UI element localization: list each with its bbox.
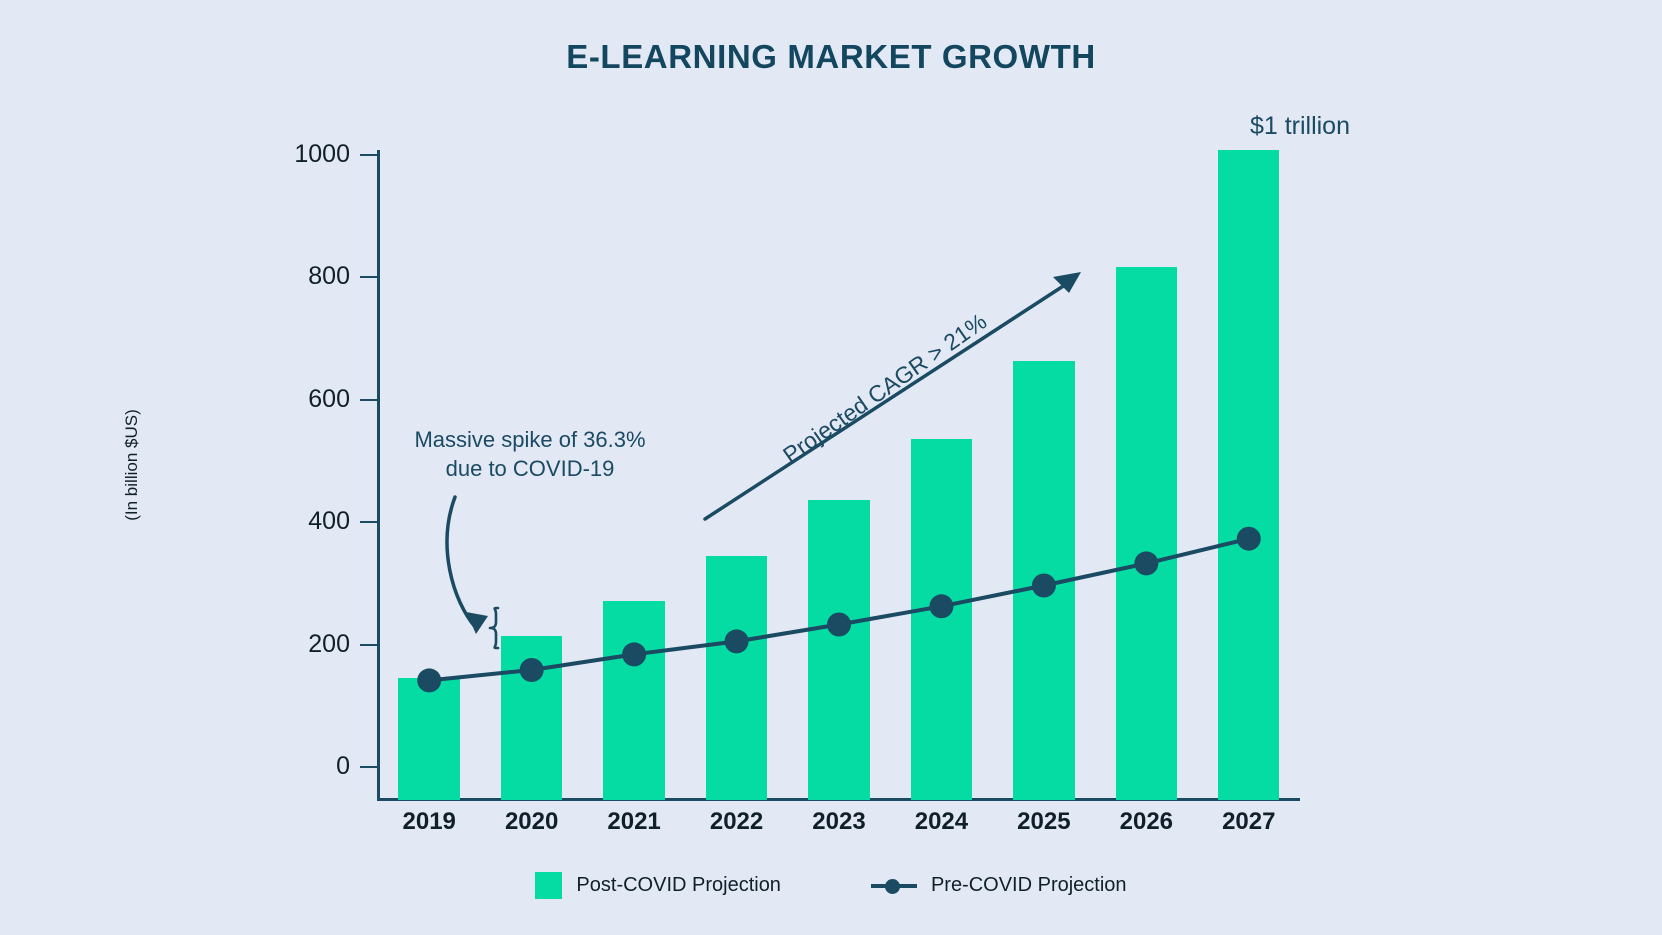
bar-2026[interactable] — [1116, 267, 1177, 800]
x-tick-label-2024: 2024 — [890, 808, 992, 836]
x-tick-label-2026: 2026 — [1095, 808, 1197, 836]
x-tick-label-2027: 2027 — [1198, 808, 1300, 836]
y-tick-800 — [360, 276, 378, 278]
page-title: E-LEARNING MARKET GROWTH — [0, 38, 1662, 76]
bar-2020[interactable] — [501, 636, 562, 800]
spike-annotation: Massive spike of 36.3% due to COVID-19 — [400, 425, 660, 483]
y-tick-label-0: 0 — [336, 752, 350, 781]
bar-swatch-icon — [535, 872, 562, 899]
x-tick-label-2025: 2025 — [993, 808, 1095, 836]
y-tick-label-600: 600 — [308, 385, 350, 414]
spike-annotation-line1: Massive spike of 36.3% — [400, 425, 660, 454]
x-tick-label-2023: 2023 — [788, 808, 890, 836]
bar-2023[interactable] — [808, 500, 869, 800]
x-tick-label-2021: 2021 — [583, 808, 685, 836]
legend-item-pre-covid[interactable]: Pre-COVID Projection — [871, 874, 1127, 897]
peak-annotation: $1 trillion — [1120, 112, 1350, 141]
legend-label-pre-covid: Pre-COVID Projection — [931, 874, 1127, 897]
x-tick-label-2020: 2020 — [480, 808, 582, 836]
bar-2025[interactable] — [1013, 361, 1074, 800]
bar-2019[interactable] — [398, 678, 459, 800]
bar-2027[interactable] — [1218, 150, 1279, 800]
y-tick-1000 — [360, 154, 378, 156]
y-tick-600 — [360, 399, 378, 401]
x-tick-label-2019: 2019 — [378, 808, 480, 836]
chart-canvas: E-LEARNING MARKET GROWTH (In billion $US… — [0, 0, 1662, 935]
x-tick-label-2022: 2022 — [685, 808, 787, 836]
y-axis-title: (In billion $US) — [122, 315, 142, 615]
y-tick-label-400: 400 — [308, 507, 350, 536]
legend-item-post-covid[interactable]: Post-COVID Projection — [535, 872, 781, 899]
spike-annotation-line2: due to COVID-19 — [400, 454, 660, 483]
line-dot-icon — [871, 877, 917, 895]
y-tick-200 — [360, 644, 378, 646]
bar-2022[interactable] — [706, 556, 767, 800]
y-tick-label-1000: 1000 — [294, 140, 350, 169]
legend: Post-COVID Projection Pre-COVID Projecti… — [0, 872, 1662, 899]
bar-2021[interactable] — [603, 601, 664, 800]
y-tick-0 — [360, 766, 378, 768]
y-tick-label-200: 200 — [308, 630, 350, 659]
bar-2024[interactable] — [911, 439, 972, 800]
y-tick-400 — [360, 521, 378, 523]
legend-label-post-covid: Post-COVID Projection — [576, 874, 781, 897]
y-tick-label-800: 800 — [308, 262, 350, 291]
